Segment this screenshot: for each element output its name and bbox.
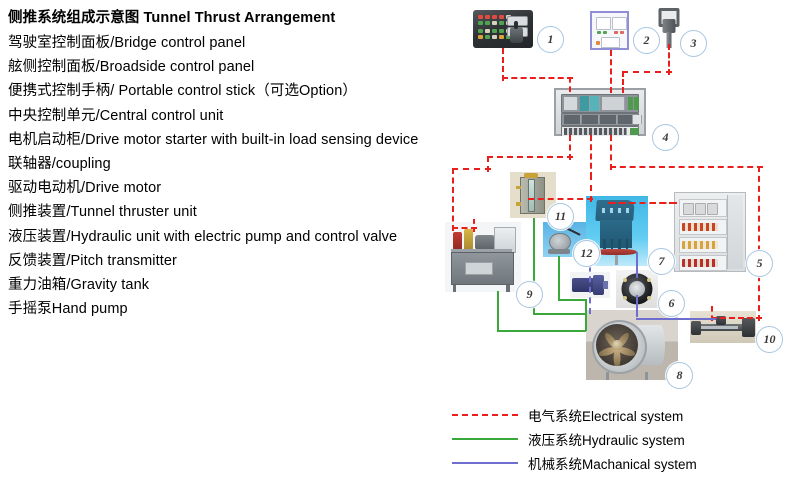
hydraulic-pump-motor bbox=[475, 235, 495, 250]
ccu-row-middle bbox=[561, 113, 639, 126]
callout-badge-4: 4 bbox=[652, 124, 679, 151]
system-key: 电气系统Electrical system 液压系统Hydraulic syst… bbox=[452, 403, 788, 475]
bridge-control-panel-art bbox=[473, 10, 533, 48]
electrical-line-left-branch bbox=[487, 156, 573, 158]
electrical-line-panel2-down bbox=[610, 50, 612, 93]
key-label-mechanical: 机械系统Machanical system bbox=[528, 453, 697, 473]
spec-item-10: 反馈装置/Pitch transmitter bbox=[8, 249, 460, 273]
starter-shelf-3 bbox=[679, 237, 727, 253]
component-pitch-transmitter[interactable] bbox=[690, 311, 756, 343]
spec-item-3: 便携式控制手柄/ Portable control stick（可选Option… bbox=[8, 79, 460, 103]
ccu-module-a bbox=[564, 97, 578, 110]
starter-relay-row bbox=[682, 223, 718, 231]
hydraulic-leg-left bbox=[453, 285, 457, 292]
spec-item-6: 联轴器/coupling bbox=[8, 152, 460, 176]
mechanical-line-7-to-coupling bbox=[636, 252, 638, 278]
ccu-row-top bbox=[561, 94, 639, 113]
spec-item-4: 中央控制单元/Central control unit bbox=[8, 104, 460, 128]
gravity-tank-bracket-right bbox=[516, 202, 521, 205]
spec-item-12: 手摇泵Hand pump bbox=[8, 297, 460, 321]
hydraulic-filter-yellow bbox=[464, 229, 473, 250]
gravity-tank-bracket-left bbox=[516, 186, 521, 189]
ccu-row-bottom bbox=[561, 126, 639, 136]
hydraulic-line-manifold bbox=[585, 299, 587, 331]
bridge-joystick[interactable] bbox=[510, 27, 523, 43]
broadside-indicator-orange bbox=[596, 41, 600, 45]
electrical-line-tank-drop bbox=[590, 174, 592, 202]
ccu-breaker-3 bbox=[600, 115, 617, 124]
starter-fuse-row bbox=[682, 259, 718, 267]
callout-badge-3: 3 bbox=[680, 30, 707, 57]
electrical-line-ccu-drop-c bbox=[610, 135, 612, 170]
ccu-module-d bbox=[602, 97, 625, 110]
hydraulic-line-swatch bbox=[452, 438, 518, 440]
page-title: 侧推系统组成示意图 Tunnel Thrust Arrangement bbox=[8, 6, 460, 31]
broadside-control-panel-art bbox=[590, 11, 629, 50]
callout-badge-1: 1 bbox=[537, 26, 564, 53]
electrical-line-left-down bbox=[487, 156, 489, 172]
coupling-bolt-1 bbox=[623, 278, 627, 282]
ccu-module-green1 bbox=[628, 97, 633, 110]
diagram-page: 侧推系统组成示意图 Tunnel Thrust Arrangement 驾驶室控… bbox=[0, 0, 788, 490]
drive-motor-starter-art bbox=[674, 192, 746, 272]
starter-shelf-2 bbox=[679, 219, 727, 235]
starter-terminal-row bbox=[682, 241, 718, 249]
electrical-line-ccu-drop-b bbox=[590, 135, 592, 178]
electrical-line-bus-left-up bbox=[569, 77, 571, 92]
thruster-fin-2 bbox=[611, 239, 613, 249]
component-drive-motor[interactable] bbox=[586, 310, 678, 380]
spec-item-7: 驱动电动机/Drive motor bbox=[8, 176, 460, 200]
electrical-line-bus-right-down bbox=[622, 71, 624, 93]
hydraulic-line-pump-down bbox=[558, 256, 560, 300]
component-drive-motor-starter[interactable] bbox=[674, 192, 746, 272]
hydraulic-filter-red bbox=[453, 232, 461, 250]
ccu-module-b bbox=[580, 96, 590, 111]
thruster-support-leg-left bbox=[606, 372, 609, 380]
electrical-line-swatch bbox=[452, 414, 518, 416]
electrical-line-panel1-right bbox=[502, 77, 573, 79]
component-hydraulic-unit[interactable] bbox=[445, 222, 521, 292]
stick-body bbox=[662, 19, 675, 33]
ccu-breaker-2 bbox=[582, 115, 599, 124]
key-row-mechanical: 机械系统Machanical system bbox=[452, 451, 788, 475]
electrical-line-tank-feed bbox=[528, 198, 593, 200]
pitch-transmitter-end-right bbox=[742, 318, 755, 337]
hydraulic-line-tank-run bbox=[533, 313, 586, 315]
hand-pump-base bbox=[548, 249, 570, 253]
callout-badge-8: 8 bbox=[666, 362, 693, 389]
electrical-line-to-hpu-h bbox=[452, 168, 491, 170]
ccu-breaker-4 bbox=[618, 115, 633, 124]
key-label-electrical: 电气系统Electrical system bbox=[528, 405, 683, 425]
sensor-shaft bbox=[603, 281, 609, 288]
specification-list: 侧推系统组成示意图 Tunnel Thrust Arrangement 驾驶室控… bbox=[8, 6, 460, 321]
hydraulic-line-pump-run bbox=[558, 299, 586, 301]
ccu-breaker-5 bbox=[633, 115, 642, 124]
drive-motor-art bbox=[586, 310, 678, 380]
spec-item-5: 电机启动柜/Drive motor starter with built-in … bbox=[8, 128, 460, 152]
broadside-indicator-red2 bbox=[620, 31, 624, 34]
ccu-breaker-1 bbox=[564, 115, 581, 124]
component-bridge-control-panel[interactable] bbox=[473, 10, 533, 48]
gravity-tank-sight-glass bbox=[528, 179, 535, 211]
callout-badge-11: 11 bbox=[547, 203, 574, 230]
starter-contactor-1 bbox=[683, 203, 694, 215]
hydraulic-nameplate bbox=[465, 262, 493, 275]
key-row-electrical: 电气系统Electrical system bbox=[452, 403, 788, 427]
thruster-support-leg-right bbox=[645, 372, 648, 380]
ccu-module-green2 bbox=[634, 97, 639, 110]
thruster-shaft bbox=[615, 255, 619, 265]
mechanical-line-motor-to-pt bbox=[636, 318, 716, 320]
electrical-line-pt-in bbox=[711, 317, 762, 319]
starter-shelf-4 bbox=[679, 255, 727, 271]
mechanical-line-swatch bbox=[452, 462, 518, 464]
callout-badge-9: 9 bbox=[516, 281, 543, 308]
broadside-indicator-green1 bbox=[597, 31, 601, 34]
thruster-fin-1 bbox=[603, 239, 605, 249]
callout-badge-10: 10 bbox=[756, 326, 783, 353]
mechanical-line-coupling-to-motor bbox=[636, 295, 638, 317]
broadside-indicator-green2 bbox=[603, 31, 607, 34]
hydraulic-line-hpu-down bbox=[497, 291, 499, 331]
ccu-terminal-green bbox=[630, 128, 639, 135]
coupling-bolt-4 bbox=[647, 296, 651, 300]
electrical-line-right-branch bbox=[610, 166, 763, 168]
thruster-fin-4 bbox=[626, 239, 628, 249]
spec-item-11: 重力油箱/Gravity tank bbox=[8, 273, 460, 297]
ccu-module-c bbox=[590, 96, 600, 111]
electrical-line-panel3-left bbox=[622, 71, 672, 73]
gravity-tank-cap bbox=[524, 173, 538, 177]
callout-badge-7: 7 bbox=[648, 248, 675, 275]
central-control-unit-art bbox=[554, 88, 646, 136]
callout-badge-12: 12 bbox=[573, 240, 600, 267]
electrical-line-cabinet-right-down bbox=[758, 166, 760, 321]
key-label-hydraulic: 液压系统Hydraulic system bbox=[528, 429, 685, 449]
starter-shelf-1 bbox=[679, 199, 727, 217]
spec-item-2: 舷侧控制面板/Broadside control panel bbox=[8, 55, 460, 79]
key-row-hydraulic: 液压系统Hydraulic system bbox=[452, 427, 788, 451]
hydraulic-unit-art bbox=[445, 222, 521, 292]
electrical-line-7-to-5 bbox=[608, 202, 677, 204]
spec-item-9: 液压装置/Hydraulic unit with electric pump a… bbox=[8, 225, 460, 249]
electrical-line-hpu-down bbox=[452, 168, 454, 231]
callout-badge-2: 2 bbox=[633, 27, 660, 54]
spec-item-8: 侧推装置/Tunnel thruster unit bbox=[8, 200, 460, 224]
electrical-line-hpu-up bbox=[473, 219, 475, 232]
starter-cabinet-door[interactable] bbox=[727, 195, 743, 269]
ccu-terminal-strip bbox=[564, 128, 627, 135]
broadside-indicator-red1 bbox=[614, 31, 618, 34]
starter-contactor-2 bbox=[695, 203, 706, 215]
callout-badge-6: 6 bbox=[658, 290, 685, 317]
component-central-control-unit[interactable] bbox=[554, 88, 646, 136]
system-schematic: 1 2 3 bbox=[440, 0, 788, 400]
thruster-vent-slots bbox=[602, 208, 629, 213]
starter-contactor-3 bbox=[707, 203, 718, 215]
pitch-transmitter-end-left bbox=[691, 321, 700, 335]
hydraulic-leg-right bbox=[506, 285, 510, 292]
coupling-bolt-2 bbox=[647, 278, 651, 282]
pitch-transmitter-rod bbox=[698, 326, 738, 328]
broadside-window-left bbox=[596, 17, 611, 30]
pitch-transmitter-art bbox=[690, 311, 756, 343]
broadside-window-right bbox=[612, 17, 627, 30]
thruster-fin-3 bbox=[618, 239, 620, 249]
hydraulic-line-hpu-run bbox=[497, 330, 586, 332]
callout-badge-5: 5 bbox=[746, 250, 773, 277]
component-broadside-control-panel[interactable] bbox=[590, 11, 629, 50]
broadside-window-bottom bbox=[601, 37, 620, 48]
spec-item-1: 驾驶室控制面板/Bridge control panel bbox=[8, 31, 460, 55]
coupling-bolt-3 bbox=[623, 296, 627, 300]
